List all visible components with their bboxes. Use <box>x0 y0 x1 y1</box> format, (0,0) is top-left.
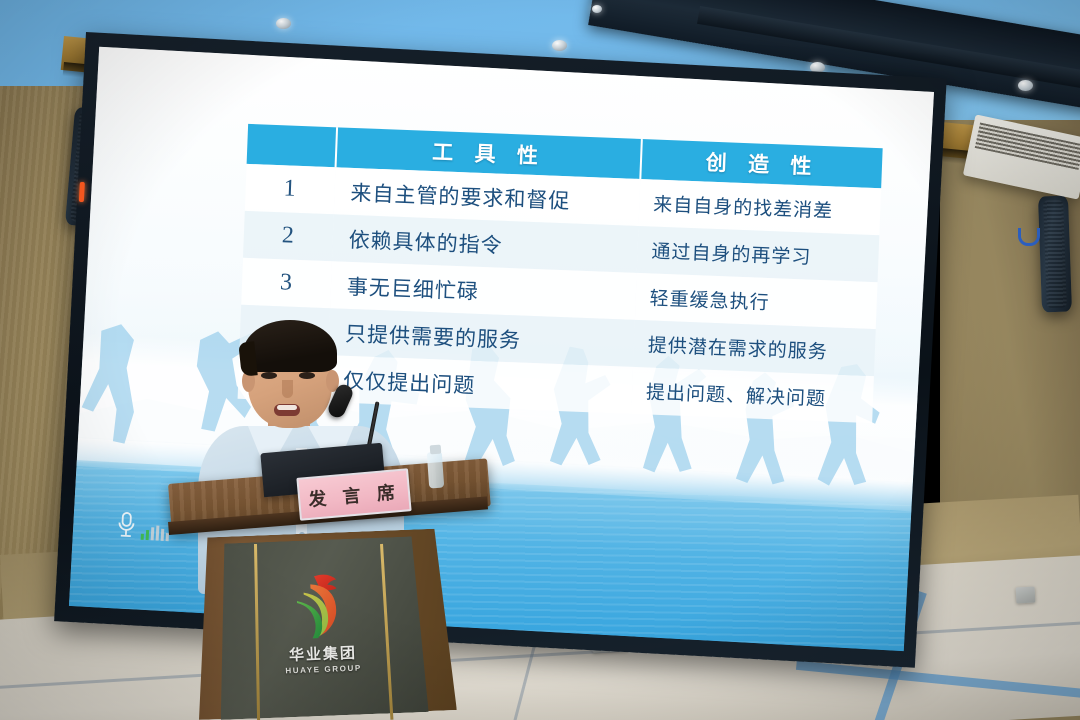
level-bar-4 <box>155 526 159 541</box>
level-bar-2 <box>145 530 149 540</box>
floor-tape-2 <box>796 661 1080 707</box>
nose <box>282 380 293 398</box>
mouth <box>274 404 300 416</box>
hair <box>243 320 337 372</box>
level-bar-3 <box>150 527 154 540</box>
level-bar-5 <box>160 529 164 541</box>
downlight-4 <box>1018 80 1033 91</box>
water-bottle-cap <box>430 445 442 455</box>
eye-right <box>299 372 315 379</box>
microphone-icon <box>114 510 137 539</box>
row-number: 1 <box>244 164 335 214</box>
downlight-2 <box>552 40 567 51</box>
water-bottle <box>427 452 444 489</box>
eye-left <box>261 372 277 379</box>
logo-chinese-name: 华业集团 <box>282 641 365 665</box>
screen-power-led-icon <box>79 182 85 202</box>
speaker-seat-sign-label: 发 言 席 <box>307 478 400 512</box>
level-bar-1 <box>140 534 143 540</box>
conference-room-photo: 工 具 性 创 造 性 1 来自主管的要求和督促 来自自身的找差消差 <box>0 0 1080 720</box>
row-create-cell: 提出问题、解决问题 <box>631 367 874 423</box>
microphone-level-indicator <box>114 510 169 541</box>
wall-speaker-right <box>1038 196 1072 313</box>
downlight-1 <box>276 18 291 29</box>
huaye-dragon-logo-icon <box>284 571 358 640</box>
logo-english-name: HUAYE GROUP <box>282 663 364 675</box>
downlight-5 <box>592 5 602 13</box>
company-logo: 华业集团 HUAYE GROUP <box>279 570 365 685</box>
speaker-cable-right <box>1018 228 1040 246</box>
table-header-index <box>246 124 336 167</box>
microphone-level-bars <box>140 525 169 541</box>
row-number: 2 <box>243 211 334 261</box>
row-number: 3 <box>241 258 332 308</box>
wall-switch-plate-2 <box>1016 587 1036 604</box>
